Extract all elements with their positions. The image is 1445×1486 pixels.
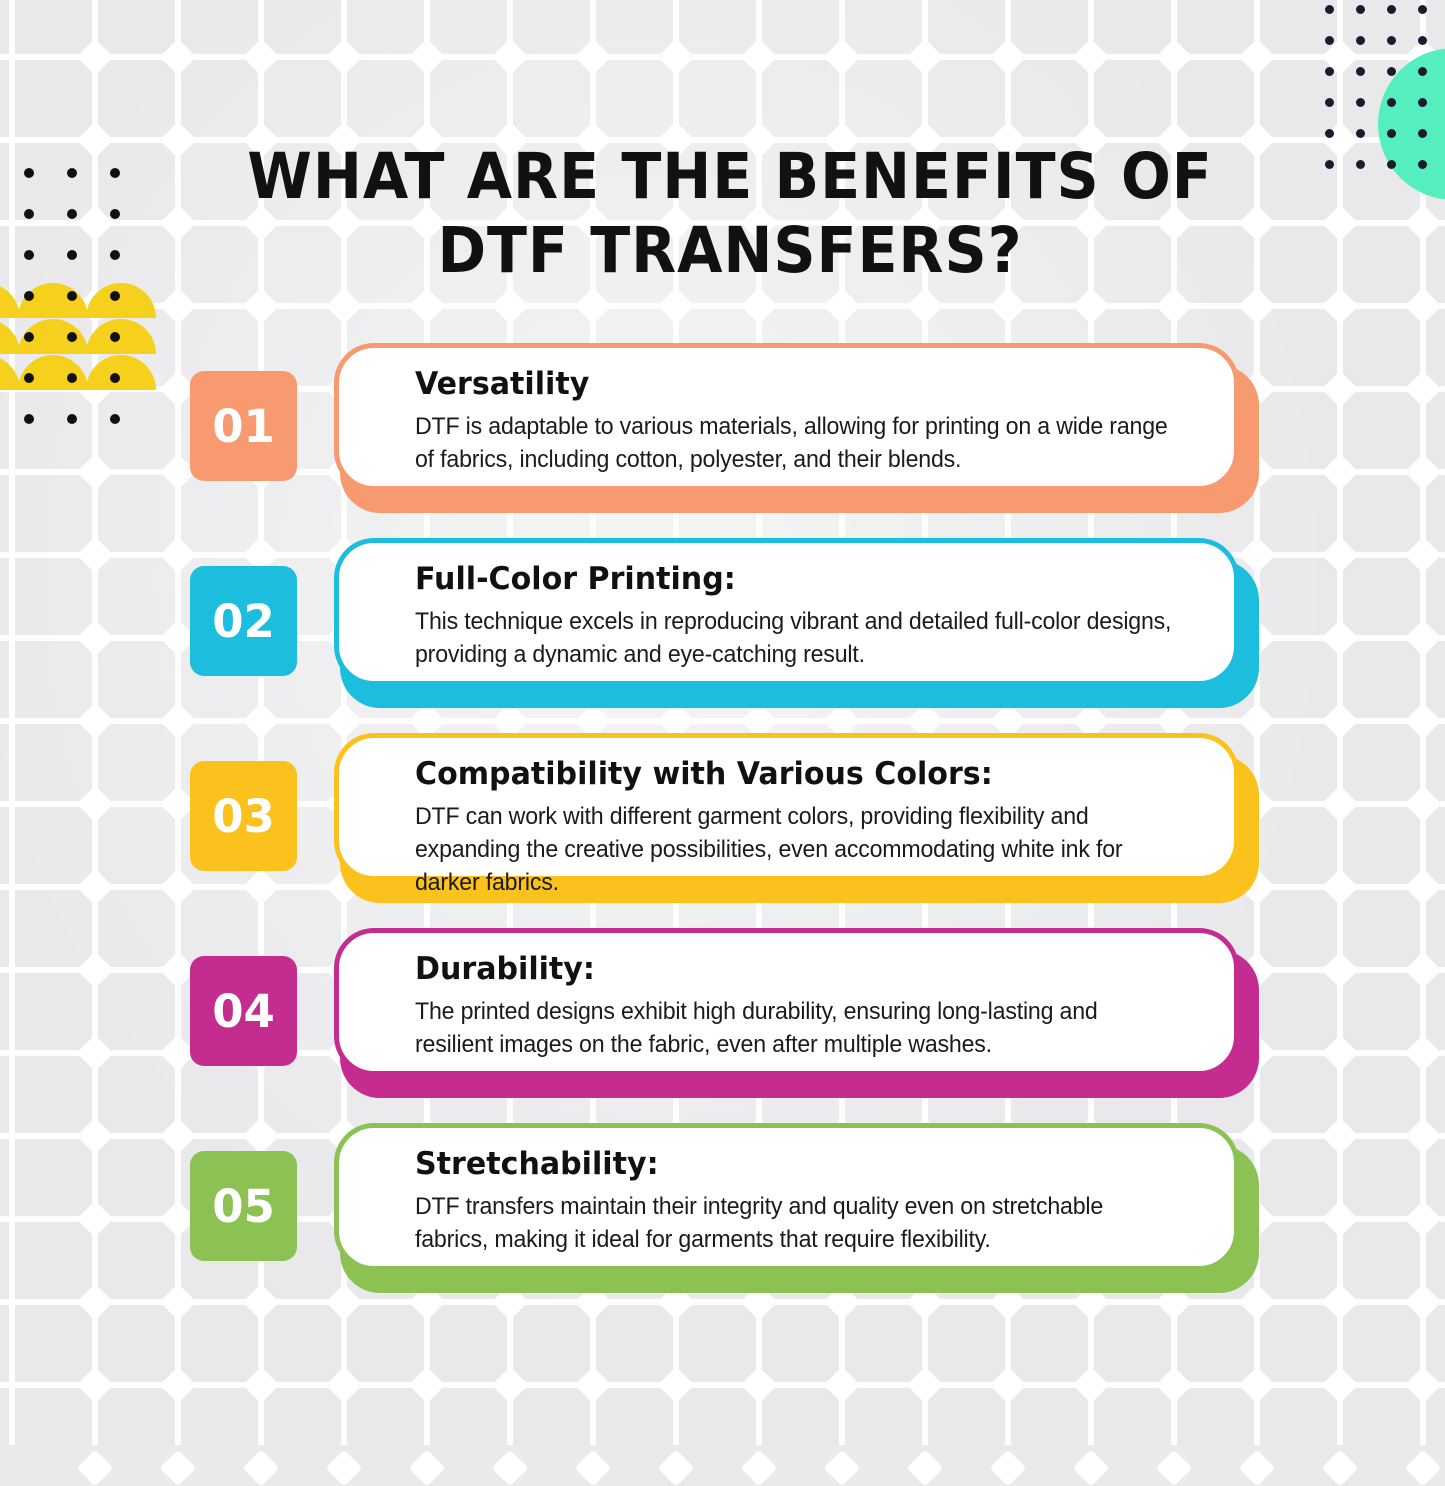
decor-dot [1325, 98, 1334, 107]
decor-dot [1356, 5, 1365, 14]
benefits-list: 01VersatilityDTF is adaptable to various… [0, 343, 1445, 1318]
grid-diamond [326, 1450, 363, 1486]
benefit-card-wrapper: Compatibility with Various Colors:DTF ca… [334, 733, 1259, 903]
benefit-number-badge: 05 [190, 1151, 297, 1261]
grid-diamond [492, 1450, 529, 1486]
decor-dot [1418, 5, 1427, 14]
benefit-description: This technique excels in reproducing vib… [415, 605, 1176, 671]
benefit-row: 04Durability:The printed designs exhibit… [0, 928, 1445, 1123]
grid-diamond [409, 1450, 446, 1486]
benefit-title: Stretchability: [415, 1144, 1180, 1184]
decor-dot [1387, 5, 1396, 14]
decor-dot [1387, 129, 1396, 138]
benefit-description: The printed designs exhibit high durabil… [415, 995, 1176, 1061]
benefit-title: Versatility [415, 364, 1180, 404]
decor-dot [1325, 129, 1334, 138]
benefit-title: Durability: [415, 949, 1180, 989]
decor-dot [1356, 98, 1365, 107]
benefit-card-wrapper: Full-Color Printing:This technique excel… [334, 538, 1259, 708]
grid-diamond [575, 1450, 612, 1486]
benefit-card: Full-Color Printing:This technique excel… [334, 538, 1239, 686]
benefit-number-badge: 03 [190, 761, 297, 871]
decor-dot [1356, 129, 1365, 138]
benefit-row: 02Full-Color Printing:This technique exc… [0, 538, 1445, 733]
decor-dot [1387, 160, 1396, 169]
grid-diamond [990, 1450, 1027, 1486]
decor-dot [1418, 129, 1427, 138]
decor-dot [1356, 67, 1365, 76]
benefit-card: Durability:The printed designs exhibit h… [334, 928, 1239, 1076]
decor-dot [1356, 160, 1365, 169]
grid-diamond [1156, 1450, 1193, 1486]
benefit-description: DTF can work with different garment colo… [415, 800, 1176, 899]
benefit-card: Stretchability:DTF transfers maintain th… [334, 1123, 1239, 1271]
benefit-card: VersatilityDTF is adaptable to various m… [334, 343, 1239, 491]
grid-diamond [160, 1450, 197, 1486]
grid-diamond [1405, 1450, 1442, 1486]
benefit-number-badge: 01 [190, 371, 297, 481]
benefit-row: 05Stretchability:DTF transfers maintain … [0, 1123, 1445, 1318]
decor-dot [1325, 36, 1334, 45]
benefit-description: DTF is adaptable to various materials, a… [415, 410, 1176, 476]
decor-dot [1387, 67, 1396, 76]
grid-diamond [658, 1450, 695, 1486]
grid-diamond [243, 1450, 280, 1486]
grid-diamond [77, 1450, 114, 1486]
grid-diamond [907, 1450, 944, 1486]
decor-dot [1325, 67, 1334, 76]
decor-dot [1387, 98, 1396, 107]
decor-dot [1356, 36, 1365, 45]
decor-dot [1325, 5, 1334, 14]
benefit-title: Compatibility with Various Colors: [415, 754, 1180, 794]
benefit-row: 03Compatibility with Various Colors:DTF … [0, 733, 1445, 928]
grid-diamond [1073, 1450, 1110, 1486]
decor-dot [1387, 36, 1396, 45]
page-title: WHAT ARE THE BENEFITS OF DTF TRANSFERS? [191, 140, 1270, 288]
benefit-card-wrapper: Stretchability:DTF transfers maintain th… [334, 1123, 1259, 1293]
grid-diamond [824, 1450, 861, 1486]
benefit-number-badge: 04 [190, 956, 297, 1066]
benefit-row: 01VersatilityDTF is adaptable to various… [0, 343, 1445, 538]
decor-dot [1418, 98, 1427, 107]
decor-dot [1418, 36, 1427, 45]
decor-dot [1418, 160, 1427, 169]
decor-dot [1418, 67, 1427, 76]
benefit-number-badge: 02 [190, 566, 297, 676]
grid-diamond [741, 1450, 778, 1486]
benefit-title: Full-Color Printing: [415, 559, 1180, 599]
benefit-card: Compatibility with Various Colors:DTF ca… [334, 733, 1239, 881]
grid-diamond [1239, 1450, 1276, 1486]
benefit-card-wrapper: VersatilityDTF is adaptable to various m… [334, 343, 1259, 513]
grid-diamond [1322, 1450, 1359, 1486]
benefit-card-wrapper: Durability:The printed designs exhibit h… [334, 928, 1259, 1098]
benefit-description: DTF transfers maintain their integrity a… [415, 1190, 1176, 1256]
decor-dot [1325, 160, 1334, 169]
